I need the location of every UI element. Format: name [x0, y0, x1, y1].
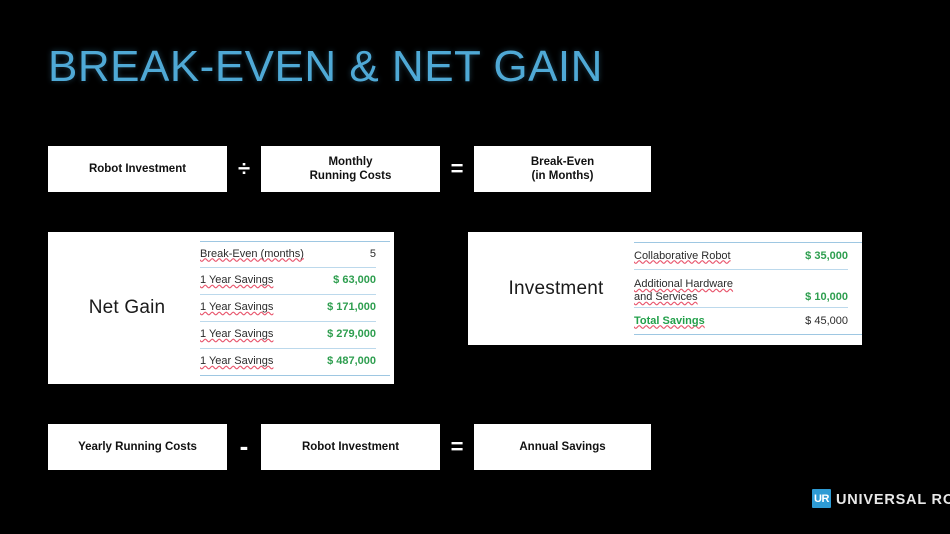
table-row: 1 Year Savings $ 63,000: [200, 268, 376, 295]
row-value: $ 10,000: [805, 291, 848, 304]
equals-operator-icon-2: =: [440, 436, 474, 458]
net-gain-panel: Net Gain Break-Even (months) 5 1 Year Sa…: [48, 232, 394, 384]
row-label: Collaborative Robot: [634, 250, 731, 263]
page-title: BREAK-EVEN & NET GAIN: [48, 42, 603, 92]
table-row: 1 Year Savings $ 279,000: [200, 322, 376, 349]
formula-row-break-even: Robot Investment ÷ Monthly Running Costs…: [48, 146, 651, 192]
formula-box-monthly-running-costs: Monthly Running Costs: [261, 146, 440, 192]
equals-operator-icon: =: [440, 158, 474, 180]
row-label: 1 Year Savings: [200, 328, 273, 341]
table-row: Total Savings $ 45,000: [634, 308, 848, 334]
net-gain-label: Net Gain: [48, 297, 200, 319]
table-row: Additional Hardware and Services $ 10,00…: [634, 270, 848, 308]
table-row: Break-Even (months) 5: [200, 242, 376, 268]
row-label: 1 Year Savings: [200, 274, 273, 287]
table-row: 1 Year Savings $ 487,000: [200, 349, 376, 375]
slide-canvas: BREAK-EVEN & NET GAIN Robot Investment ÷…: [0, 0, 950, 534]
investment-table: Collaborative Robot $ 35,000 Additional …: [634, 242, 862, 335]
row-label: 1 Year Savings: [200, 355, 273, 368]
table-row: 1 Year Savings $ 171,000: [200, 295, 376, 322]
formula-box-break-even: Break-Even (in Months): [474, 146, 651, 192]
ur-logo-icon: UR: [812, 489, 831, 508]
formula-box-yearly-running-costs: Yearly Running Costs: [48, 424, 227, 470]
brand-logo: UR UNIVERSAL ROBOTS: [812, 489, 950, 508]
investment-panel: Investment Collaborative Robot $ 35,000 …: [468, 232, 862, 345]
divide-operator-icon: ÷: [227, 158, 261, 180]
formula-box-annual-savings: Annual Savings: [474, 424, 651, 470]
row-value: $ 45,000: [805, 315, 848, 328]
investment-label: Investment: [468, 278, 634, 300]
row-value: 5: [370, 248, 376, 261]
row-value: $ 171,000: [327, 301, 376, 314]
row-value: $ 63,000: [333, 274, 376, 287]
row-value: $ 35,000: [805, 250, 848, 263]
row-label: 1 Year Savings: [200, 301, 273, 314]
formula-box-robot-investment: Robot Investment: [48, 146, 227, 192]
net-gain-table: Break-Even (months) 5 1 Year Savings $ 6…: [200, 241, 390, 376]
row-value: $ 487,000: [327, 355, 376, 368]
brand-name: UNIVERSAL ROBOTS: [836, 493, 950, 508]
minus-operator-icon: -: [227, 439, 261, 455]
formula-row-annual-savings: Yearly Running Costs - Robot Investment …: [48, 424, 651, 470]
row-label: Total Savings: [634, 315, 705, 328]
row-value: $ 279,000: [327, 328, 376, 341]
row-label: Additional Hardware and Services: [634, 278, 733, 304]
row-label: Break-Even (months): [200, 248, 304, 261]
formula-box-robot-investment-2: Robot Investment: [261, 424, 440, 470]
table-row: Collaborative Robot $ 35,000: [634, 243, 848, 270]
